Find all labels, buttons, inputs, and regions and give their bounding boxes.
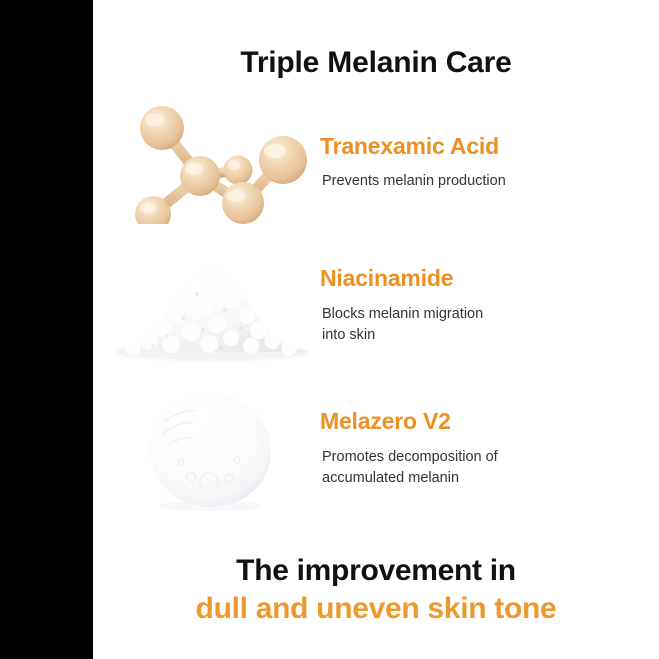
molecule-icon — [117, 98, 317, 224]
ingredient-copy: Niacinamide Blocks melanin migrationinto… — [320, 248, 650, 346]
ingredient-description: Prevents melanin production — [322, 171, 650, 192]
ingredient-illustration-gel — [103, 384, 318, 514]
tagline: The improvement in dull and uneven skin … — [93, 552, 659, 629]
tagline-line-1: The improvement in — [93, 552, 659, 590]
ingredient-name: Niacinamide — [320, 266, 650, 291]
ingredient-description: Promotes decomposition ofaccumulated mel… — [322, 447, 650, 489]
ingredient-description: Blocks melanin migrationinto skin — [322, 304, 650, 346]
ingredient-name: Melazero V2 — [320, 409, 650, 434]
gel-droplet-icon — [141, 388, 281, 514]
tagline-line-2: dull and uneven skin tone — [93, 590, 659, 628]
ingredient-illustration-molecule — [103, 96, 318, 226]
ingredient-copy: Melazero V2 Promotes decomposition ofacc… — [320, 384, 650, 489]
ingredient-row: Tranexamic Acid Prevents melanin product… — [93, 96, 659, 226]
product-infographic: Triple Melanin Care — [0, 0, 659, 659]
ingredient-row: Melazero V2 Promotes decomposition ofacc… — [93, 384, 659, 514]
page-title: Triple Melanin Care — [93, 46, 659, 80]
ingredient-name: Tranexamic Acid — [320, 134, 650, 159]
left-black-band — [0, 0, 93, 659]
ingredient-illustration-powder — [103, 248, 318, 378]
content-panel: Triple Melanin Care — [93, 0, 659, 659]
powder-mound-icon — [105, 252, 317, 372]
ingredient-row: Niacinamide Blocks melanin migrationinto… — [93, 248, 659, 378]
ingredient-copy: Tranexamic Acid Prevents melanin product… — [320, 96, 650, 192]
